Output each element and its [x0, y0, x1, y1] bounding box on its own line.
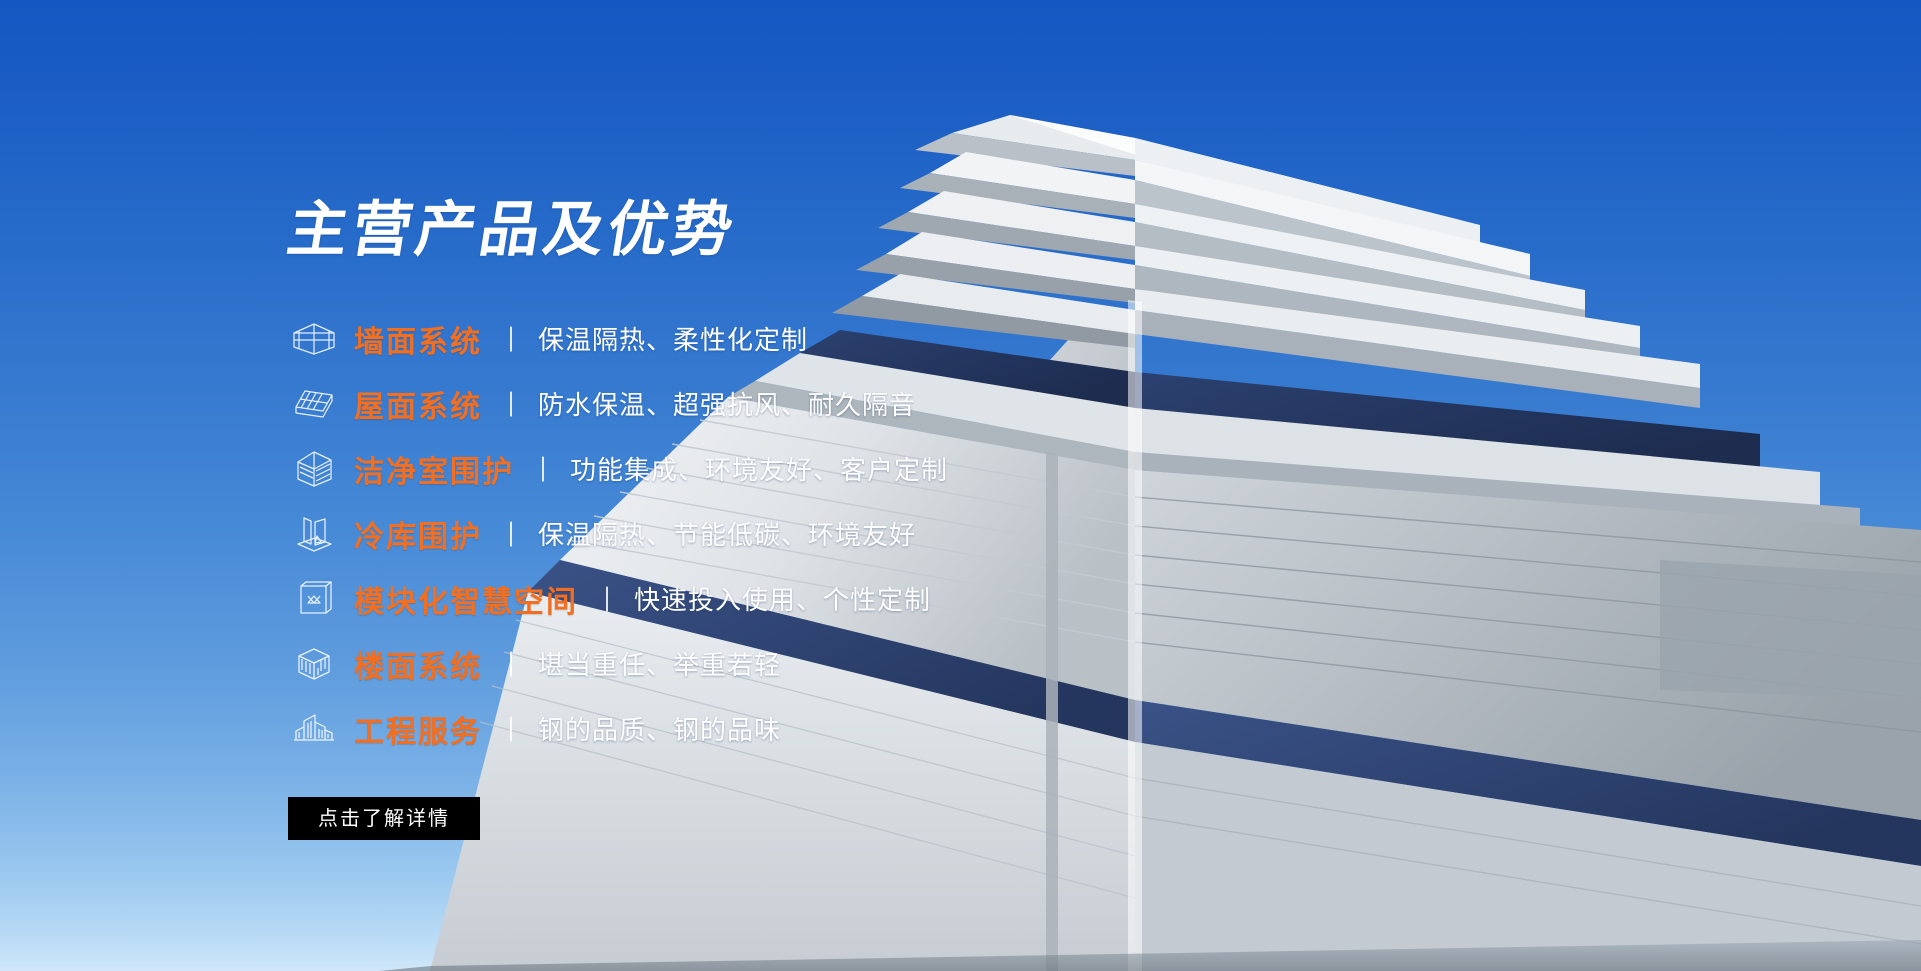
engineering-service-icon	[288, 707, 340, 751]
hero-content: 主营产品及优势 墙面系统 丨 保温隔热、柔性化定制	[288, 200, 1188, 840]
list-item-description: 堪当重任、举重若轻	[538, 645, 781, 682]
list-item-title: 楼面系统	[354, 642, 482, 686]
modular-space-icon	[288, 577, 340, 621]
page-title: 主营产品及优势	[283, 200, 1193, 260]
list-item-separator: 丨	[504, 645, 518, 682]
list-item-title: 工程服务	[354, 707, 482, 751]
learn-more-button[interactable]: 点击了解详情	[288, 797, 480, 840]
list-item-separator: 丨	[504, 515, 518, 552]
list-item[interactable]: 楼面系统 丨 堪当重任、举重若轻	[288, 631, 1188, 696]
list-item[interactable]: 冷库围护 丨 保温隔热、节能低碳、环境友好	[288, 501, 1188, 566]
cleanroom-icon	[288, 447, 340, 491]
list-item[interactable]: 墙面系统 丨 保温隔热、柔性化定制	[288, 306, 1188, 371]
list-item-title: 屋面系统	[354, 382, 482, 426]
list-item-description: 快速投入使用、个性定制	[634, 580, 931, 617]
list-item-description: 保温隔热、柔性化定制	[538, 320, 808, 357]
list-item-separator: 丨	[504, 385, 518, 422]
list-item-separator: 丨	[536, 450, 550, 487]
list-item-separator: 丨	[504, 710, 518, 747]
cold-storage-icon	[288, 512, 340, 556]
list-item-description: 保温隔热、节能低碳、环境友好	[538, 515, 916, 552]
list-item-title: 洁净室围护	[354, 447, 514, 491]
list-item[interactable]: 模块化智慧空间 丨 快速投入使用、个性定制	[288, 566, 1188, 631]
hero-banner: 主营产品及优势 墙面系统 丨 保温隔热、柔性化定制	[0, 0, 1921, 971]
list-item-description: 功能集成、环境友好、客户定制	[570, 450, 948, 487]
list-item[interactable]: 洁净室围护 丨 功能集成、环境友好、客户定制	[288, 436, 1188, 501]
list-item-title: 模块化智慧空间	[354, 577, 578, 621]
list-item-separator: 丨	[504, 320, 518, 357]
list-item-description: 钢的品质、钢的品味	[538, 710, 781, 747]
floor-system-icon	[288, 642, 340, 686]
roof-panel-icon	[288, 382, 340, 426]
list-item-title: 墙面系统	[354, 317, 482, 361]
product-list: 墙面系统 丨 保温隔热、柔性化定制 屋面系统 丨	[288, 306, 1188, 761]
list-item-separator: 丨	[600, 580, 614, 617]
wall-panel-icon	[288, 317, 340, 361]
list-item[interactable]: 屋面系统 丨 防水保温、超强抗风、耐久隔音	[288, 371, 1188, 436]
list-item-title: 冷库围护	[354, 512, 482, 556]
list-item[interactable]: 工程服务 丨 钢的品质、钢的品味	[288, 696, 1188, 761]
list-item-description: 防水保温、超强抗风、耐久隔音	[538, 385, 916, 422]
